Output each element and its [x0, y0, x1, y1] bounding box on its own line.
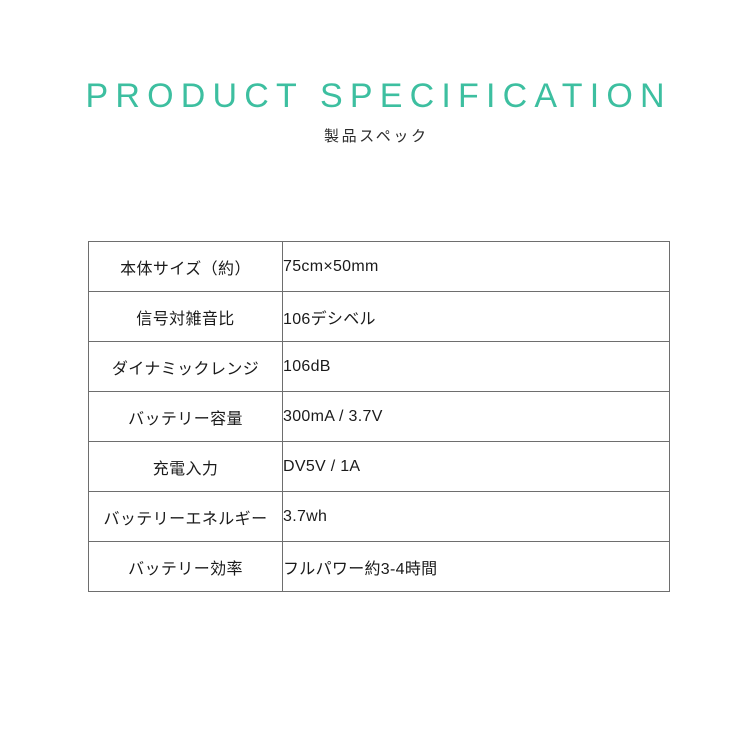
table-row: ダイナミックレンジ 106dB — [89, 342, 670, 392]
spec-label-cell: バッテリー容量 — [89, 392, 283, 442]
spec-label-cell: バッテリー効率 — [89, 542, 283, 592]
spec-value-cell: 300mA / 3.7V — [283, 392, 670, 442]
spec-label-cell: バッテリーエネルギー — [89, 492, 283, 542]
spec-label-cell: ダイナミックレンジ — [89, 342, 283, 392]
page-title: PRODUCT SPECIFICATION — [0, 74, 750, 118]
table-row: 充電入力 DV5V / 1A — [89, 442, 670, 492]
spec-label-cell: 信号対雑音比 — [89, 292, 283, 342]
specification-table-container: 本体サイズ（約） 75cm×50mm 信号対雑音比 106デシベル ダイナミック… — [88, 241, 667, 592]
table-row: バッテリー容量 300mA / 3.7V — [89, 392, 670, 442]
spec-value-cell: フルパワー約3-4時間 — [283, 542, 670, 592]
table-row: 本体サイズ（約） 75cm×50mm — [89, 242, 670, 292]
specification-table-body: 本体サイズ（約） 75cm×50mm 信号対雑音比 106デシベル ダイナミック… — [89, 242, 670, 592]
page-subtitle: 製品スペック — [0, 127, 750, 147]
spec-value-cell: 3.7wh — [283, 492, 670, 542]
spec-value-cell: 106dB — [283, 342, 670, 392]
spec-value-cell: 106デシベル — [283, 292, 670, 342]
specification-table: 本体サイズ（約） 75cm×50mm 信号対雑音比 106デシベル ダイナミック… — [88, 241, 670, 592]
product-specification-page: PRODUCT SPECIFICATION 製品スペック 本体サイズ（約） 75… — [0, 0, 750, 750]
spec-value-cell: DV5V / 1A — [283, 442, 670, 492]
table-row: 信号対雑音比 106デシベル — [89, 292, 670, 342]
spec-label-cell: 充電入力 — [89, 442, 283, 492]
table-row: バッテリー効率 フルパワー約3-4時間 — [89, 542, 670, 592]
spec-value-cell: 75cm×50mm — [283, 242, 670, 292]
spec-label-cell: 本体サイズ（約） — [89, 242, 283, 292]
page-header: PRODUCT SPECIFICATION 製品スペック — [0, 74, 750, 147]
table-row: バッテリーエネルギー 3.7wh — [89, 492, 670, 542]
